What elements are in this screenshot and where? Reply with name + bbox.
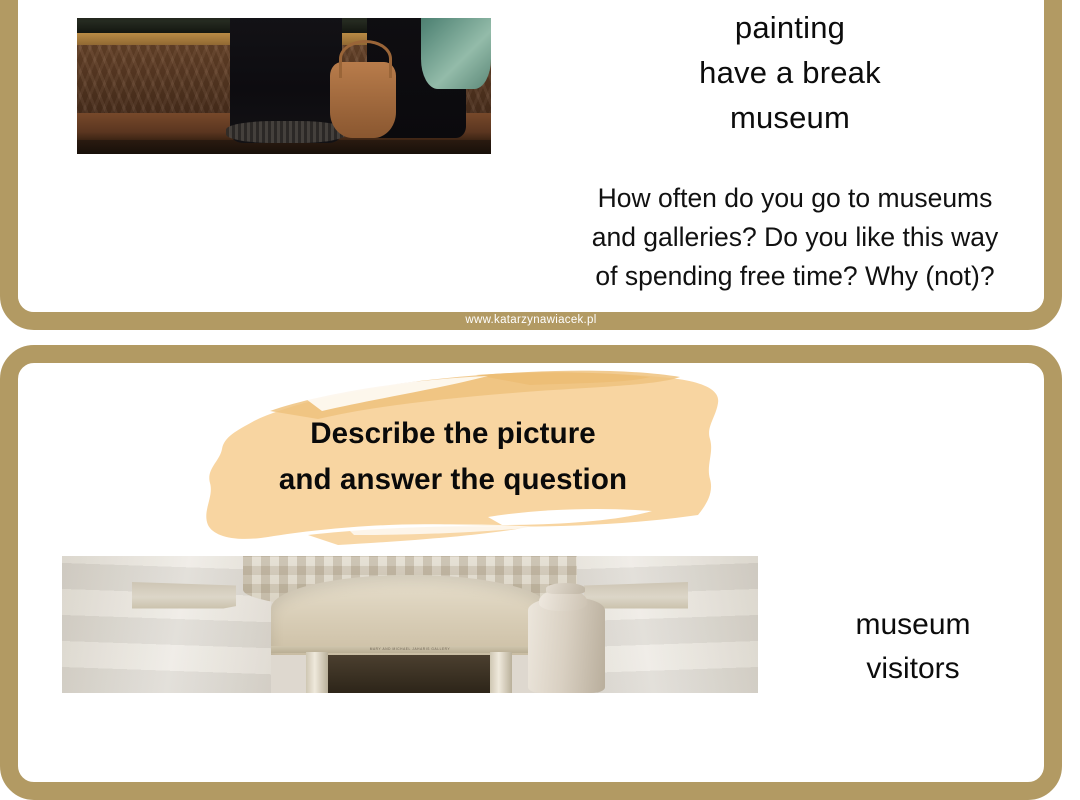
vocabulary-list-bottom: museum visitors <box>788 603 1038 691</box>
stone-arch <box>271 575 549 654</box>
headline-line: Describe the picture <box>168 411 738 457</box>
vocabulary-word: museum <box>788 603 1038 647</box>
worksheet-headline: Describe the picture and answer the ques… <box>168 411 738 502</box>
vocabulary-word: painting <box>530 6 1050 51</box>
card-top: painting have a break museum How often d… <box>0 0 1062 330</box>
ionic-column-right <box>490 652 512 693</box>
ionic-column-left <box>306 652 328 693</box>
vocabulary-word: visitors <box>788 647 1038 691</box>
worksheet-page: painting have a break museum How often d… <box>0 0 1080 675</box>
far-doorway <box>320 655 501 693</box>
marble-wall-left <box>62 556 271 693</box>
question-line: How often do you go to museums <box>530 179 1060 218</box>
coat-fur-trim <box>226 121 346 143</box>
photo-couple-scene <box>77 18 491 154</box>
card-bottom: Describe the picture and answer the ques… <box>0 345 1062 800</box>
photo-museum-hall-scene <box>62 556 758 693</box>
vocabulary-word: museum <box>530 96 1050 141</box>
vocabulary-word: have a break <box>530 51 1050 96</box>
photo-couple-in-gallery <box>77 18 491 154</box>
green-backpack <box>421 18 491 89</box>
question-line: of spending free time? Why (not)? <box>530 257 1060 296</box>
marble-statue <box>528 597 605 693</box>
photo-museum-hall <box>62 556 758 693</box>
card-top-content: painting have a break museum How often d… <box>18 0 1044 312</box>
vocabulary-list-top: painting have a break museum <box>530 6 1050 141</box>
statue-hair <box>546 583 585 594</box>
brown-handbag <box>330 62 396 138</box>
discussion-question-top: How often do you go to museums and galle… <box>530 179 1060 296</box>
question-line: and galleries? Do you like this way <box>530 218 1060 257</box>
headline-line: and answer the question <box>168 457 738 503</box>
